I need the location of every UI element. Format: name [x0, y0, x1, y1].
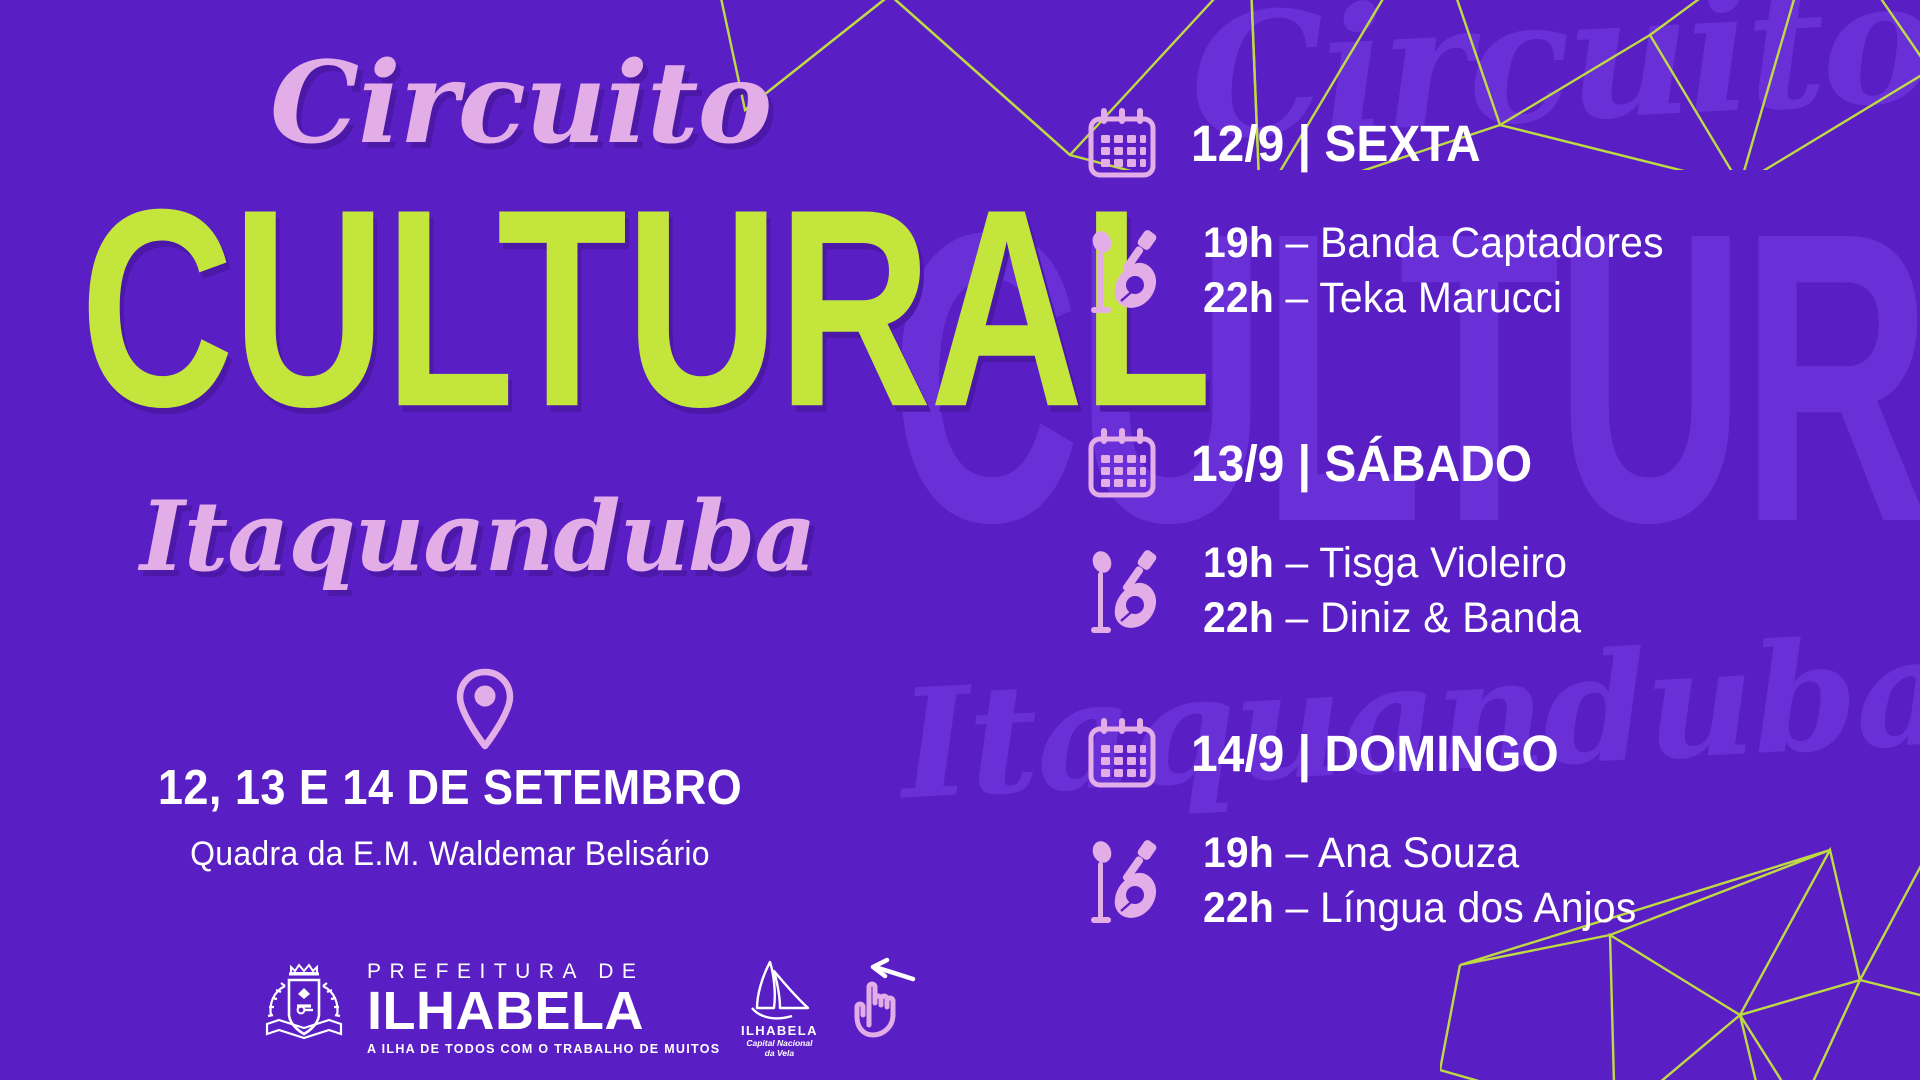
- event-poster: Circuito CULTURAL Itaquanduba Ci: [0, 0, 1920, 1080]
- act-line: 19h – Banda Captadores: [1203, 219, 1664, 268]
- acts-lines: 19h – Banda Captadores 22h – Teka Marucc…: [1203, 219, 1688, 323]
- acts-lines: 19h – Ana Souza 22h – Língua dos Anjos: [1203, 829, 1659, 933]
- swipe-left-hand-icon: [835, 953, 927, 1043]
- act-name: Diniz & Banda: [1320, 594, 1581, 642]
- acts-lines: 19h – Tisga Violeiro 22h – Diniz & Banda: [1203, 539, 1601, 643]
- event-dates: 12, 13 E 14 DE SETEMBRO: [36, 760, 864, 816]
- day-acts: 19h – Banda Captadores 22h – Teka Marucc…: [1085, 219, 1920, 323]
- prefecture-text-block: PREFEITURA DE ILHABELA A ILHA DE TODOS C…: [367, 961, 720, 1056]
- act-name: Teka Marucci: [1319, 274, 1562, 322]
- act-dash: –: [1286, 219, 1309, 267]
- act-dash: –: [1286, 539, 1309, 587]
- map-pin-wrapper: [455, 668, 515, 757]
- act-time: 19h: [1203, 829, 1274, 877]
- act-dash: –: [1286, 829, 1309, 877]
- calendar-icon: [1085, 715, 1159, 791]
- poster-footer: PREFEITURA DE ILHABELA A ILHA DE TODOS C…: [0, 956, 960, 1066]
- calendar-icon: [1085, 425, 1159, 501]
- act-name: Banda Captadores: [1320, 219, 1664, 267]
- acoustic-guitar-microphone-icon: [1085, 545, 1171, 637]
- act-line: 22h – Teka Marucci: [1203, 274, 1664, 323]
- act-dash: –: [1286, 274, 1309, 322]
- event-venue: Quadra da E.M. Waldemar Belisário: [27, 835, 873, 874]
- act-time: 22h: [1203, 274, 1274, 322]
- act-line: 19h – Ana Souza: [1203, 829, 1636, 878]
- act-time: 22h: [1203, 594, 1274, 642]
- act-time: 19h: [1203, 539, 1274, 587]
- acoustic-guitar-microphone-icon: [1085, 835, 1171, 927]
- schedule-day-block: 12/9 | SEXTA: [1085, 105, 1920, 323]
- swipe-gesture-wrapper: [835, 953, 927, 1048]
- title-circuito: Circuito: [270, 38, 771, 169]
- day-acts: 19h – Tisga Violeiro 22h – Diniz & Banda: [1085, 539, 1920, 643]
- acoustic-guitar-microphone-icon: [1085, 225, 1171, 317]
- sail-brand-name: ILHABELA: [741, 1023, 818, 1038]
- day-acts: 19h – Ana Souza 22h – Língua dos Anjos: [1085, 829, 1920, 933]
- title-cultural: CULTURAL: [80, 180, 1210, 436]
- sail-tagline-line1: Capital Nacional: [746, 1038, 812, 1048]
- title-itaquanduba: Itaquanduba: [140, 480, 816, 593]
- city-name: ILHABELA: [367, 984, 720, 1038]
- day-header: 12/9 | SEXTA: [1085, 105, 1920, 181]
- calendar-icon: [1085, 105, 1159, 181]
- schedule-day-block: 14/9 | DOMINGO: [1085, 715, 1920, 933]
- act-dash: –: [1286, 594, 1309, 642]
- day-title: 12/9 | SEXTA: [1191, 114, 1481, 173]
- ilhabela-coat-of-arms-icon: [255, 958, 353, 1058]
- act-time: 22h: [1203, 884, 1274, 932]
- act-time: 19h: [1203, 219, 1274, 267]
- sail-logo-block: ILHABELA Capital Nacional da Vela: [740, 959, 818, 1058]
- act-name: Língua dos Anjos: [1320, 884, 1636, 932]
- act-line: 22h – Língua dos Anjos: [1203, 884, 1636, 933]
- act-line: 22h – Diniz & Banda: [1203, 594, 1581, 643]
- schedule-day-block: 13/9 | SÁBADO: [1085, 425, 1920, 643]
- map-pin-icon: [455, 668, 515, 752]
- day-title: 13/9 | SÁBADO: [1191, 434, 1532, 493]
- day-header: 13/9 | SÁBADO: [1085, 425, 1920, 501]
- act-dash: –: [1286, 884, 1309, 932]
- act-line: 19h – Tisga Violeiro: [1203, 539, 1581, 588]
- prefecture-logo-row: PREFEITURA DE ILHABELA A ILHA DE TODOS C…: [255, 958, 818, 1058]
- poster-left-column: Circuito CULTURAL Itaquanduba 12, 13 E 1…: [0, 0, 900, 1080]
- act-name: Ana Souza: [1318, 829, 1520, 877]
- day-title: 14/9 | DOMINGO: [1191, 724, 1559, 783]
- schedule-column: 12/9 | SEXTA: [1085, 0, 1920, 1080]
- prefecture-tagline: A ILHA DE TODOS COM O TRABALHO DE MUITOS: [367, 1043, 720, 1056]
- day-header: 14/9 | DOMINGO: [1085, 715, 1920, 791]
- act-name: Tisga Violeiro: [1319, 539, 1567, 587]
- sailboat-icon: [740, 959, 818, 1025]
- prefecture-label: PREFEITURA DE: [367, 961, 720, 982]
- sail-tagline-line2: da Vela: [765, 1048, 794, 1058]
